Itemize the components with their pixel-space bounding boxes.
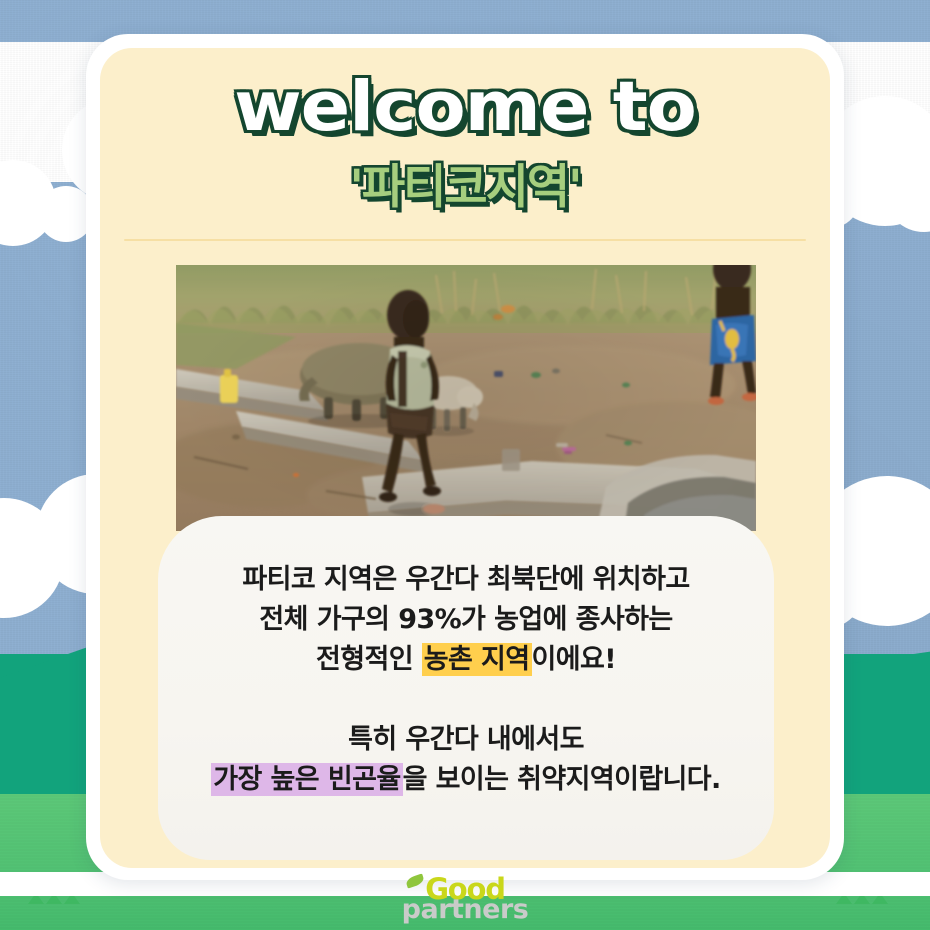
body-line-3-before: 전형적인 <box>316 644 422 675</box>
body-line-5-after: 을 보이는 취약지역이랍니다. <box>403 764 721 795</box>
content-card: welcome to '파티코지역' <box>100 48 830 868</box>
highlight-rural-area: 농촌 지역 <box>422 643 532 676</box>
header-divider <box>124 239 806 241</box>
body-line-3-after: 이에요! <box>532 644 616 675</box>
village-photo-illustration <box>176 265 756 531</box>
description-panel: 파티코 지역은 우간다 최북단에 위치하고 전체 가구의 93%가 농업에 종사… <box>158 516 774 860</box>
paragraph-spacer <box>184 680 748 720</box>
body-line-1: 파티코 지역은 우간다 최북단에 위치하고 <box>184 560 748 600</box>
logo-word-partners: partners <box>0 899 930 921</box>
card-header: welcome to '파티코지역' <box>100 48 830 241</box>
page-title-english: welcome to <box>100 72 830 142</box>
body-line-4: 특히 우간다 내에서도 <box>184 720 748 760</box>
body-line-2: 전체 가구의 93%가 농업에 종사하는 <box>184 600 748 640</box>
village-photo <box>176 265 756 531</box>
page-title-korean: '파티코지역' <box>100 148 830 217</box>
body-line-5: 가장 높은 빈곤율을 보이는 취약지역이랍니다. <box>184 760 748 800</box>
body-line-3: 전형적인 농촌 지역이에요! <box>184 640 748 680</box>
highlight-highest-poverty: 가장 높은 빈곤율 <box>211 763 402 796</box>
brand-logo: Good partners <box>0 878 930 921</box>
